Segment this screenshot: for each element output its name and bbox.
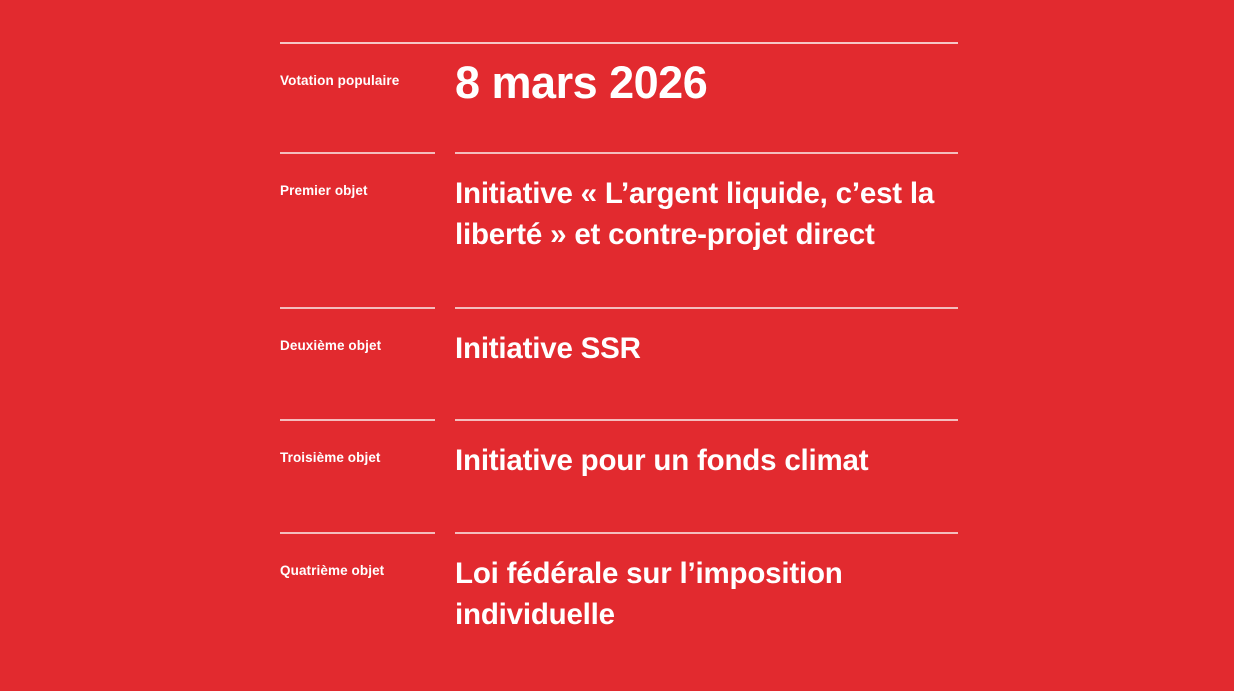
object-1-label: Premier objet	[280, 154, 455, 199]
votation-date: 8 mars 2026	[455, 44, 958, 108]
object-1-title: Initiative « L’argent liquide, c’est la …	[455, 154, 958, 255]
votation-label: Votation populaire	[280, 44, 455, 89]
votation-poster: Votation populaire 8 mars 2026 Premier o…	[0, 0, 1234, 691]
row-object-1: Premier objet Initiative « L’argent liqu…	[280, 154, 958, 307]
row-votation-date: Votation populaire 8 mars 2026	[280, 44, 958, 152]
object-2-label: Deuxième objet	[280, 309, 455, 354]
row-object-2: Deuxième objet Initiative SSR	[280, 309, 958, 419]
row-object-4: Quatrième objet Loi fédérale sur l’impos…	[280, 534, 958, 654]
row-object-3: Troisième objet Initiative pour un fonds…	[280, 421, 958, 532]
poster-content: Votation populaire 8 mars 2026 Premier o…	[280, 42, 958, 654]
object-3-label: Troisième objet	[280, 421, 455, 466]
object-4-label: Quatrième objet	[280, 534, 455, 579]
object-2-title: Initiative SSR	[455, 309, 958, 369]
object-3-title: Initiative pour un fonds climat	[455, 421, 958, 481]
object-4-title: Loi fédérale sur l’imposition individuel…	[455, 534, 958, 635]
